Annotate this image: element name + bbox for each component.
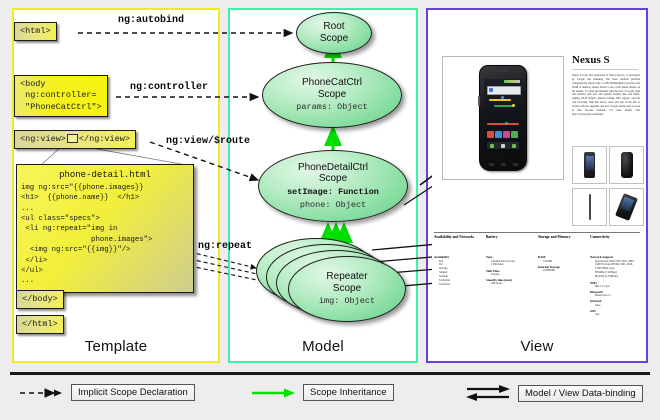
callout-phone-detail-html: phone-detail.html img ng:src="{{phone.im… [16, 164, 194, 293]
panel-label-template: Template [12, 338, 220, 355]
phone-app-icon-row [487, 131, 519, 138]
phone-side-button [478, 96, 480, 106]
ngview-slot-icon [67, 134, 78, 143]
code-box-body-open: <body ng:controller= "PhoneCatCtrl"> [14, 75, 108, 117]
phone-wallpaper-dot-2 [512, 104, 515, 107]
bidirectional-arrow-icon [465, 384, 511, 402]
edge-label-ngview: ng:view/$route [166, 136, 250, 147]
scope-phonedetailctrl: PhoneDetailCtrl Scope setImage: Function… [258, 150, 408, 222]
phone-wallpaper-line-1 [489, 99, 511, 101]
scope-phonecatctrl: PhoneCatCtrl Scope params: Object [262, 62, 402, 128]
scope-phonecatctrl-title: PhoneCatCtrl Scope [302, 77, 362, 101]
spec-heading-availability: Availability and Networks [434, 235, 484, 239]
scope-phonecatctrl-prop-params: params: Object [296, 102, 367, 113]
spec-list-connectivity: Network Support Quad-band GSM: 850, 900,… [590, 255, 638, 316]
phone-dock-icon-3 [512, 144, 516, 148]
edge-label-autobind: ng:autobind [118, 15, 184, 26]
phone-app-icon-4 [511, 131, 518, 138]
phone-hero-image [442, 56, 564, 180]
spec-value: 6 hours [491, 273, 536, 277]
thumb-back-image [621, 152, 633, 178]
legend-label-scope-inheritance: Scope Inheritance [303, 384, 394, 401]
thumbnail-edge[interactable] [572, 188, 607, 226]
spec-value: HSUPA (5.76Mbps) [595, 275, 638, 279]
scope-root-title: Root Scope [320, 21, 348, 45]
spec-list-storage: RAM 512MB Internal Storage 16384MB [538, 255, 588, 272]
ngview-close-tag: </ng:view> [79, 134, 130, 144]
thumb-edge-image [589, 194, 591, 220]
phone-device-illustration [479, 65, 527, 171]
phone-search-widget [487, 86, 521, 95]
phone-dock-icon-2 [501, 144, 505, 148]
ngview-open-tag: <ng:view> [20, 134, 66, 144]
spec-value: false [595, 304, 638, 308]
spec-column-connectivity: Connectivity Network Support Quad-band G… [590, 235, 640, 333]
phone-wallpaper-line-2 [494, 105, 514, 107]
code-box-ngview: <ng:view></ng:view> [14, 130, 136, 149]
phone-key-search [513, 163, 518, 166]
spec-column-storage: Storage and Memory RAM 512MB Internal St… [538, 235, 590, 333]
dashed-arrow-icon [18, 386, 64, 400]
product-title-divider [572, 69, 638, 70]
spec-value: Bluetooth 2.1 [595, 294, 638, 298]
edge-label-repeat: ng:repeat [198, 241, 252, 252]
legend-label-model-view-data-binding: Model / View Data-binding [518, 385, 643, 402]
spec-value: 428 hours [491, 282, 536, 286]
product-title: Nexus S [572, 54, 610, 66]
scope-phonedetailctrl-title: PhoneDetailCtrl Scope [298, 162, 368, 186]
legend-item-model-view-data-binding: Model / View Data-binding [465, 384, 643, 402]
code-box-html-close: </html> [16, 315, 64, 334]
spec-heading-battery: Battery [486, 235, 536, 239]
phone-wallpaper-dot-1 [501, 96, 504, 99]
phone-status-bar [504, 80, 520, 83]
scope-phonedetailctrl-prop-phone: phone: Object [300, 200, 366, 211]
specs-table: Availability and Networks Availability M… [434, 232, 640, 333]
thumbnail-back[interactable] [609, 146, 644, 184]
phone-dock-icon-1 [490, 144, 494, 148]
phone-wallpaper-line-3 [487, 123, 519, 125]
product-description: Nexus S is the next generation of Nexus … [572, 74, 640, 117]
phone-earpiece [496, 70, 510, 72]
panel-label-view: View [426, 338, 648, 355]
thumbnail-angle[interactable] [609, 188, 644, 226]
phone-dock [487, 142, 519, 149]
panel-label-model: Model [228, 338, 418, 355]
spec-list-availability: Availability M1 O2 Orange Singtel Starhu… [434, 255, 484, 286]
thumbnail-grid[interactable] [572, 146, 642, 226]
thumb-angle-image [615, 193, 638, 221]
spec-column-availability: Availability and Networks Availability M… [434, 235, 486, 333]
legend-item-scope-inheritance: Scope Inheritance [250, 384, 394, 401]
spec-value: true [595, 313, 638, 317]
phone-hardware-keys [485, 162, 521, 167]
thumbnail-front[interactable] [572, 146, 607, 184]
phone-wallpaper-dot-3 [505, 122, 508, 125]
green-arrow-icon [250, 386, 296, 400]
phone-app-icon-3 [503, 131, 510, 138]
thumb-front-image [584, 152, 595, 178]
legend-label-implicit-scope-declaration: Implicit Scope Declaration [71, 384, 195, 401]
callout-title: phone-detail.html [21, 170, 189, 180]
spec-value: 16384MB [543, 269, 588, 273]
scope-phonedetailctrl-prop-setimage: setImage: Function [287, 187, 379, 198]
spec-value: 1500 mAh [491, 263, 536, 267]
spec-heading-storage: Storage and Memory [538, 235, 588, 239]
scope-repeater: Repeater Scope img: Object [288, 256, 406, 322]
spec-value: 802.11 b/g/n [595, 285, 638, 289]
diagram-root: <html> <body ng:controller= "PhoneCatCtr… [0, 0, 660, 420]
phone-key-menu [501, 163, 506, 166]
view-rendered-page: Nexus S Nexus S is the next generation o… [432, 14, 642, 344]
spec-value: Vodafone [439, 283, 484, 287]
phone-screen [484, 79, 522, 151]
edge-label-controller: ng:controller [130, 82, 208, 93]
phone-key-back [489, 163, 494, 166]
legend: Implicit Scope Declaration Scope Inherit… [10, 382, 650, 408]
legend-divider [10, 372, 650, 375]
spec-heading-connectivity: Connectivity [590, 235, 638, 239]
spec-column-battery: Battery Type Lithium Ion (Li-Ion) 1500 m… [486, 235, 538, 333]
scope-repeater-stack: Repeater Scope img: Object [256, 232, 406, 324]
phone-app-icon-1 [487, 131, 494, 138]
phone-app-icon-2 [495, 131, 502, 138]
code-box-html-open: <html> [14, 22, 57, 41]
callout-code: img ng:src="{{phone.images}} <h1> {{phon… [21, 183, 189, 287]
scope-root: Root Scope [296, 12, 372, 54]
code-box-body-close: </body> [16, 290, 64, 309]
scope-repeater-title: Repeater Scope [326, 271, 367, 295]
spec-list-battery: Type Lithium Ion (Li-Ion) 1500 mAh Talk … [486, 255, 536, 286]
spec-value: 512MB [543, 260, 588, 264]
scope-repeater-prop-img: img: Object [319, 296, 375, 307]
legend-item-implicit-scope-declaration: Implicit Scope Declaration [18, 384, 195, 401]
